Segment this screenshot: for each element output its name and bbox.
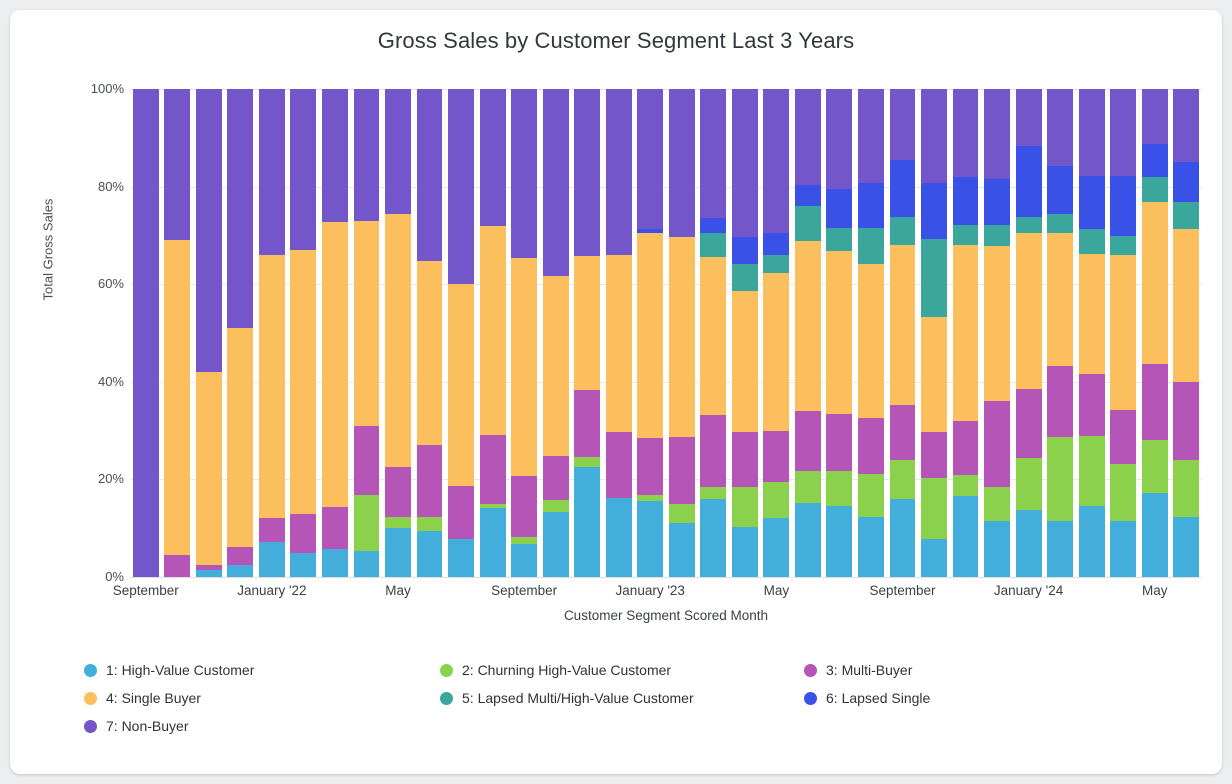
bar-column[interactable] <box>826 89 852 577</box>
bar-column[interactable] <box>606 89 632 577</box>
bar-segment[interactable] <box>354 551 380 577</box>
bar-column[interactable] <box>732 89 758 577</box>
screenshot-root: Gross Sales by Customer Segment Last 3 Y… <box>0 0 1232 784</box>
chart-card: Gross Sales by Customer Segment Last 3 Y… <box>10 10 1222 774</box>
bar-segment[interactable] <box>953 89 979 177</box>
x-axis-tick-labels: SeptemberJanuary '22MaySeptemberJanuary … <box>130 583 1202 605</box>
legend-item[interactable]: 2: Churning High-Value Customer <box>440 656 804 684</box>
legend-label: 2: Churning High-Value Customer <box>462 662 671 678</box>
bar-segment[interactable] <box>385 89 411 214</box>
x-tick-label: January '23 <box>616 583 685 598</box>
bar-segment[interactable] <box>259 89 285 255</box>
bar-segment[interactable] <box>700 218 726 233</box>
bar-segment[interactable] <box>1079 229 1105 254</box>
bar-segment[interactable] <box>164 89 190 240</box>
bar-segment[interactable] <box>700 499 726 577</box>
bar-segment[interactable] <box>890 89 916 160</box>
bar-segment[interactable] <box>763 431 789 483</box>
bar-segment[interactable] <box>890 245 916 405</box>
bar-segment[interactable] <box>574 256 600 390</box>
bar-segment[interactable] <box>322 507 348 549</box>
bar-column[interactable] <box>322 89 348 577</box>
bar-segment[interactable] <box>732 291 758 432</box>
bar-segment[interactable] <box>732 89 758 237</box>
bar-segment[interactable] <box>826 228 852 251</box>
bar-segment[interactable] <box>322 89 348 222</box>
bar-column[interactable] <box>890 89 916 577</box>
bar-segment[interactable] <box>1173 460 1199 517</box>
bar-segment[interactable] <box>1047 437 1073 521</box>
bar-segment[interactable] <box>322 222 348 507</box>
bar-column[interactable] <box>196 89 222 577</box>
legend-swatch-icon <box>84 664 97 677</box>
bar-column[interactable] <box>543 89 569 577</box>
bar-segment[interactable] <box>448 539 474 577</box>
legend-label: 1: High-Value Customer <box>106 662 254 678</box>
bar-segment[interactable] <box>858 89 884 183</box>
legend-swatch-icon <box>440 692 453 705</box>
bar-segment[interactable] <box>417 445 443 516</box>
bar-column[interactable] <box>763 89 789 577</box>
bar-segment[interactable] <box>858 517 884 577</box>
bar-segment[interactable] <box>543 276 569 456</box>
bar-segment[interactable] <box>700 89 726 218</box>
bar-segment[interactable] <box>732 527 758 577</box>
bar-segment[interactable] <box>227 547 253 566</box>
bar-segment[interactable] <box>890 405 916 460</box>
bar-segment[interactable] <box>385 467 411 517</box>
bar-segment[interactable] <box>890 460 916 499</box>
bar-segment[interactable] <box>417 89 443 261</box>
bar-segment[interactable] <box>574 89 600 256</box>
bar-segment[interactable] <box>1110 236 1136 255</box>
bar-segment[interactable] <box>227 89 253 328</box>
y-tick-label: 20% <box>68 471 124 486</box>
legend-label: 5: Lapsed Multi/High-Value Customer <box>462 690 694 706</box>
bar-segment[interactable] <box>480 226 506 435</box>
bar-segment[interactable] <box>669 89 695 237</box>
bar-segment[interactable] <box>227 565 253 577</box>
plot-area <box>130 89 1202 577</box>
legend-label: 7: Non-Buyer <box>106 718 188 734</box>
bar-column[interactable] <box>1142 89 1168 577</box>
gridline <box>130 577 1202 578</box>
bar-segment[interactable] <box>826 471 852 506</box>
bar-column[interactable] <box>574 89 600 577</box>
legend-item[interactable]: 5: Lapsed Multi/High-Value Customer <box>440 684 804 712</box>
bar-segment[interactable] <box>1016 510 1042 577</box>
y-axis-tick-labels: 0%20%40%60%80%100% <box>62 89 124 577</box>
bar-segment[interactable] <box>953 245 979 422</box>
bar-segment[interactable] <box>543 89 569 276</box>
bar-column[interactable] <box>164 89 190 577</box>
bar-segment[interactable] <box>354 89 380 221</box>
legend-swatch-icon <box>84 692 97 705</box>
bar-column[interactable] <box>1079 89 1105 577</box>
bar-segment[interactable] <box>259 255 285 519</box>
bar-segment[interactable] <box>1047 166 1073 214</box>
bar-segment[interactable] <box>1047 89 1073 166</box>
bar-segment[interactable] <box>259 542 285 577</box>
legend-label: 4: Single Buyer <box>106 690 201 706</box>
bar-segment[interactable] <box>700 415 726 487</box>
bar-segment[interactable] <box>669 504 695 524</box>
bar-segment[interactable] <box>795 241 821 411</box>
bar-segment[interactable] <box>1047 366 1073 437</box>
bar-segment[interactable] <box>1079 89 1105 176</box>
bar-segment[interactable] <box>826 414 852 471</box>
bar-segment[interactable] <box>1142 144 1168 177</box>
bar-segment[interactable] <box>196 89 222 372</box>
x-tick-label: January '24 <box>994 583 1063 598</box>
x-tick-label: September <box>113 583 179 598</box>
bar-segment[interactable] <box>1016 146 1042 217</box>
legend-swatch-icon <box>804 692 817 705</box>
bar-segment[interactable] <box>1079 176 1105 229</box>
bar-segment[interactable] <box>984 225 1010 246</box>
bar-segment[interactable] <box>354 221 380 425</box>
legend-item[interactable]: 4: Single Buyer <box>84 684 440 712</box>
bars-layer <box>130 89 1202 577</box>
bar-segment[interactable] <box>1016 217 1042 234</box>
bar-segment[interactable] <box>637 438 663 495</box>
x-tick-label: January '22 <box>237 583 306 598</box>
x-tick-label: May <box>764 583 790 598</box>
bar-segment[interactable] <box>1142 364 1168 440</box>
bar-segment[interactable] <box>921 478 947 539</box>
bar-segment[interactable] <box>763 89 789 232</box>
y-tick-label: 0% <box>68 569 124 584</box>
bar-segment[interactable] <box>1173 202 1199 228</box>
bar-segment[interactable] <box>700 233 726 257</box>
bar-column[interactable] <box>227 89 253 577</box>
bar-segment[interactable] <box>290 89 316 250</box>
bar-segment[interactable] <box>574 457 600 467</box>
bar-segment[interactable] <box>858 183 884 228</box>
bar-segment[interactable] <box>984 89 1010 179</box>
bar-segment[interactable] <box>1110 89 1136 176</box>
chart-legend[interactable]: 1: High-Value Customer2: Churning High-V… <box>84 656 1144 740</box>
bar-segment[interactable] <box>921 317 947 432</box>
bar-segment[interactable] <box>1142 440 1168 493</box>
bar-segment[interactable] <box>795 89 821 185</box>
bar-segment[interactable] <box>1142 89 1168 144</box>
bar-segment[interactable] <box>1173 382 1199 460</box>
bar-column[interactable] <box>417 89 443 577</box>
bar-segment[interactable] <box>354 495 380 551</box>
bar-segment[interactable] <box>826 506 852 577</box>
legend-item[interactable]: 3: Multi-Buyer <box>804 656 1144 684</box>
bar-segment[interactable] <box>795 206 821 241</box>
bar-segment[interactable] <box>984 246 1010 401</box>
bar-segment[interactable] <box>259 518 285 541</box>
bar-segment[interactable] <box>543 512 569 577</box>
bar-segment[interactable] <box>385 214 411 467</box>
bar-segment[interactable] <box>511 89 537 258</box>
bar-segment[interactable] <box>984 401 1010 487</box>
legend-item[interactable]: 6: Lapsed Single <box>804 684 1144 712</box>
bar-segment[interactable] <box>732 432 758 488</box>
bar-segment[interactable] <box>1016 89 1042 146</box>
bar-segment[interactable] <box>1142 177 1168 202</box>
bar-column[interactable] <box>669 89 695 577</box>
bar-segment[interactable] <box>953 475 979 496</box>
bar-segment[interactable] <box>1047 233 1073 366</box>
bar-segment[interactable] <box>858 474 884 518</box>
bar-segment[interactable] <box>1016 233 1042 388</box>
bar-segment[interactable] <box>921 432 947 478</box>
bar-segment[interactable] <box>795 503 821 577</box>
bar-segment[interactable] <box>133 89 159 577</box>
bar-segment[interactable] <box>858 228 884 264</box>
bar-segment[interactable] <box>795 471 821 503</box>
legend-swatch-icon <box>804 664 817 677</box>
x-tick-label: May <box>1142 583 1168 598</box>
bar-column[interactable] <box>984 89 1010 577</box>
bar-column[interactable] <box>1047 89 1073 577</box>
bar-segment[interactable] <box>196 570 222 577</box>
bar-column[interactable] <box>354 89 380 577</box>
bar-column[interactable] <box>385 89 411 577</box>
bar-segment[interactable] <box>826 251 852 414</box>
bar-segment[interactable] <box>1016 458 1042 510</box>
bar-column[interactable] <box>858 89 884 577</box>
bar-column[interactable] <box>133 89 159 577</box>
bar-segment[interactable] <box>354 426 380 495</box>
bar-segment[interactable] <box>1142 202 1168 364</box>
bar-segment[interactable] <box>385 517 411 529</box>
y-tick-label: 100% <box>68 81 124 96</box>
x-axis-title: Customer Segment Scored Month <box>130 608 1202 623</box>
bar-column[interactable] <box>700 89 726 577</box>
bar-segment[interactable] <box>795 185 821 206</box>
bar-segment[interactable] <box>417 517 443 532</box>
bar-segment[interactable] <box>417 261 443 445</box>
bar-segment[interactable] <box>858 264 884 418</box>
bar-segment[interactable] <box>669 523 695 577</box>
legend-swatch-icon <box>84 720 97 733</box>
bar-segment[interactable] <box>511 544 537 577</box>
bar-segment[interactable] <box>1173 162 1199 203</box>
bar-segment[interactable] <box>1016 389 1042 458</box>
bar-column[interactable] <box>480 89 506 577</box>
bar-segment[interactable] <box>480 435 506 504</box>
bar-segment[interactable] <box>196 372 222 565</box>
bar-column[interactable] <box>511 89 537 577</box>
bar-segment[interactable] <box>1047 521 1073 577</box>
bar-segment[interactable] <box>1110 521 1136 577</box>
bar-segment[interactable] <box>763 233 789 255</box>
bar-segment[interactable] <box>606 89 632 255</box>
bar-segment[interactable] <box>1110 410 1136 464</box>
bar-segment[interactable] <box>1142 493 1168 577</box>
bar-segment[interactable] <box>227 328 253 547</box>
bar-segment[interactable] <box>1173 89 1199 162</box>
y-tick-label: 80% <box>68 179 124 194</box>
bar-segment[interactable] <box>890 217 916 245</box>
bar-column[interactable] <box>290 89 316 577</box>
bar-column[interactable] <box>259 89 285 577</box>
bar-segment[interactable] <box>826 89 852 189</box>
y-axis-title: Total Gross Sales <box>41 170 56 330</box>
bar-segment[interactable] <box>763 273 789 431</box>
x-tick-label: September <box>491 583 557 598</box>
bar-segment[interactable] <box>953 225 979 245</box>
bar-segment[interactable] <box>732 487 758 527</box>
bar-segment[interactable] <box>700 487 726 499</box>
bar-segment[interactable] <box>480 508 506 577</box>
bar-segment[interactable] <box>953 421 979 475</box>
bar-segment[interactable] <box>890 499 916 577</box>
bar-segment[interactable] <box>290 514 316 553</box>
bar-segment[interactable] <box>511 258 537 476</box>
bar-column[interactable] <box>1016 89 1042 577</box>
bar-segment[interactable] <box>1173 229 1199 382</box>
bar-segment[interactable] <box>290 553 316 577</box>
bar-column[interactable] <box>921 89 947 577</box>
bar-column[interactable] <box>448 89 474 577</box>
bar-segment[interactable] <box>543 500 569 512</box>
bar-segment[interactable] <box>606 498 632 577</box>
bar-segment[interactable] <box>511 537 537 544</box>
bar-segment[interactable] <box>164 240 190 554</box>
bar-segment[interactable] <box>574 467 600 577</box>
x-tick-label: May <box>385 583 411 598</box>
bar-segment[interactable] <box>511 476 537 537</box>
bar-segment[interactable] <box>763 255 789 273</box>
bar-segment[interactable] <box>543 456 569 500</box>
bar-segment[interactable] <box>1110 255 1136 410</box>
bar-segment[interactable] <box>480 89 506 226</box>
bar-column[interactable] <box>637 89 663 577</box>
bar-segment[interactable] <box>953 177 979 225</box>
bar-segment[interactable] <box>732 264 758 291</box>
bar-segment[interactable] <box>1079 374 1105 436</box>
bar-segment[interactable] <box>984 487 1010 521</box>
bar-segment[interactable] <box>417 531 443 577</box>
legend-label: 3: Multi-Buyer <box>826 662 912 678</box>
bar-segment[interactable] <box>1173 517 1199 577</box>
bar-segment[interactable] <box>637 89 663 229</box>
y-tick-label: 60% <box>68 276 124 291</box>
bar-segment[interactable] <box>637 501 663 577</box>
bar-segment[interactable] <box>890 160 916 217</box>
bar-segment[interactable] <box>606 255 632 432</box>
bar-segment[interactable] <box>669 237 695 437</box>
x-tick-label: September <box>869 583 935 598</box>
bar-segment[interactable] <box>1047 214 1073 234</box>
bar-segment[interactable] <box>921 183 947 239</box>
bar-column[interactable] <box>795 89 821 577</box>
bar-segment[interactable] <box>984 179 1010 225</box>
bar-segment[interactable] <box>1079 436 1105 505</box>
bar-segment[interactable] <box>448 89 474 284</box>
bar-segment[interactable] <box>290 250 316 514</box>
bar-segment[interactable] <box>385 528 411 577</box>
bar-segment[interactable] <box>732 237 758 263</box>
bar-segment[interactable] <box>921 539 947 577</box>
bar-segment[interactable] <box>858 418 884 474</box>
bar-segment[interactable] <box>574 390 600 457</box>
bar-segment[interactable] <box>1079 254 1105 374</box>
bar-segment[interactable] <box>953 496 979 577</box>
legend-item[interactable]: 7: Non-Buyer <box>84 712 440 740</box>
bar-segment[interactable] <box>637 233 663 438</box>
bar-column[interactable] <box>1110 89 1136 577</box>
bar-segment[interactable] <box>826 189 852 228</box>
bar-column[interactable] <box>1173 89 1199 577</box>
bar-segment[interactable] <box>700 257 726 415</box>
y-tick-label: 40% <box>68 374 124 389</box>
bar-segment[interactable] <box>1110 176 1136 237</box>
bar-segment[interactable] <box>669 437 695 503</box>
bar-segment[interactable] <box>1079 506 1105 577</box>
bar-segment[interactable] <box>795 411 821 471</box>
bar-segment[interactable] <box>763 482 789 518</box>
bar-segment[interactable] <box>763 518 789 577</box>
bar-segment[interactable] <box>921 239 947 317</box>
bar-segment[interactable] <box>984 521 1010 577</box>
bar-segment[interactable] <box>448 284 474 486</box>
legend-label: 6: Lapsed Single <box>826 690 930 706</box>
bar-segment[interactable] <box>322 549 348 577</box>
bar-column[interactable] <box>953 89 979 577</box>
legend-swatch-icon <box>440 664 453 677</box>
bar-segment[interactable] <box>448 486 474 539</box>
bar-segment[interactable] <box>164 555 190 577</box>
bar-segment[interactable] <box>606 432 632 498</box>
bar-segment[interactable] <box>1110 464 1136 522</box>
legend-item[interactable]: 1: High-Value Customer <box>84 656 440 684</box>
bar-segment[interactable] <box>921 89 947 183</box>
